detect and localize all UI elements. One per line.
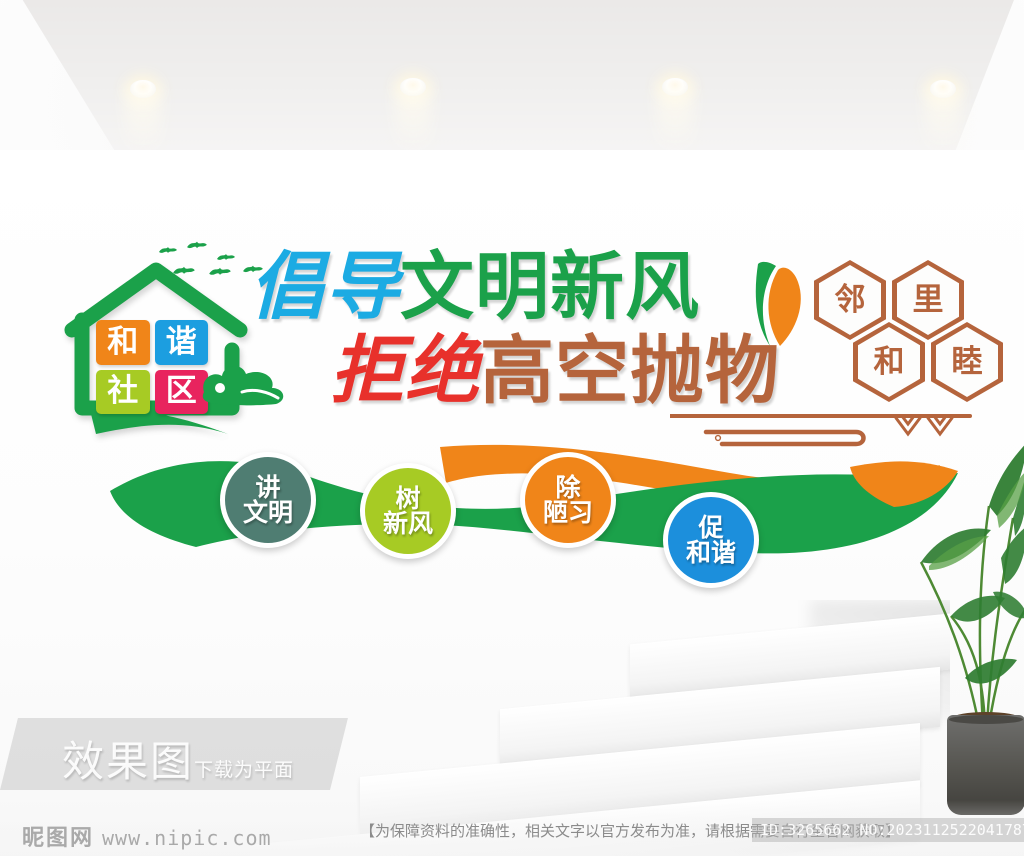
- ceiling-light-4: [930, 80, 956, 98]
- asset-id-badge: ID:3265662 NO:20231125220417879101: [752, 818, 1024, 842]
- hexagon-he-label: 和: [858, 327, 920, 397]
- ceiling-light-1: [130, 80, 156, 98]
- hexagon-group: 邻 里 和 睦: [810, 260, 990, 435]
- ceiling: [0, 0, 1024, 170]
- ceiling-light-2: [400, 78, 426, 96]
- hexagon-li-label: 里: [897, 265, 959, 335]
- site-url: www.nipic.com: [102, 826, 272, 850]
- hexagon-he: 和: [853, 322, 925, 402]
- watermark-text: 效果图下载为平面: [62, 728, 294, 789]
- tile-she: 社: [96, 370, 150, 415]
- wall-graphic: 和 谐 社 区 倡导文明新风 拒绝高空抛物: [50, 230, 950, 580]
- badge-cuhexie-label: 促和谐: [686, 515, 736, 566]
- headline-line-1: 倡导文明新风: [250, 250, 700, 324]
- ceiling-light-3: [662, 78, 688, 96]
- hexagon-lin-label: 邻: [819, 265, 881, 335]
- badge-cuhexie[interactable]: 促和谐: [663, 492, 759, 588]
- headline-line-2: 拒绝高空抛物: [330, 334, 780, 408]
- headline-seg-gaokongpaowu: 高空抛物: [480, 334, 780, 408]
- hexagon-li: 里: [892, 260, 964, 340]
- badge-jiangwenming-label: 讲文明: [243, 475, 293, 526]
- watermark-subtitle: 下载为平面: [194, 759, 294, 781]
- site-name-cn: 昵图网: [22, 826, 94, 851]
- headline-seg-wenmingxinfeng: 文明新风: [400, 250, 700, 324]
- badge-jiangwenming[interactable]: 讲文明: [220, 452, 316, 548]
- badge-chuloxi-label: 除陋习: [543, 475, 593, 526]
- badge-shuxinfeng[interactable]: 树新风: [360, 463, 456, 559]
- tile-he: 和: [96, 320, 150, 365]
- hexagon-lin: 邻: [814, 260, 886, 340]
- headline-seg-jujue: 拒绝: [330, 334, 480, 408]
- badge-chuloxi[interactable]: 除陋习: [520, 452, 616, 548]
- site-watermark: 昵图网 www.nipic.com: [22, 820, 272, 852]
- screenshot-root: 和 谐 社 区 倡导文明新风 拒绝高空抛物: [0, 0, 1024, 856]
- community-tiles: 和 谐 社 区: [96, 320, 208, 414]
- hexagon-mu-label: 睦: [936, 327, 998, 397]
- watermark-title: 效果图: [62, 737, 194, 786]
- badge-shuxinfeng-label: 树新风: [383, 486, 433, 537]
- leaf-flame-icon: [750, 260, 812, 352]
- headline-seg-changdao: 倡导: [250, 250, 400, 324]
